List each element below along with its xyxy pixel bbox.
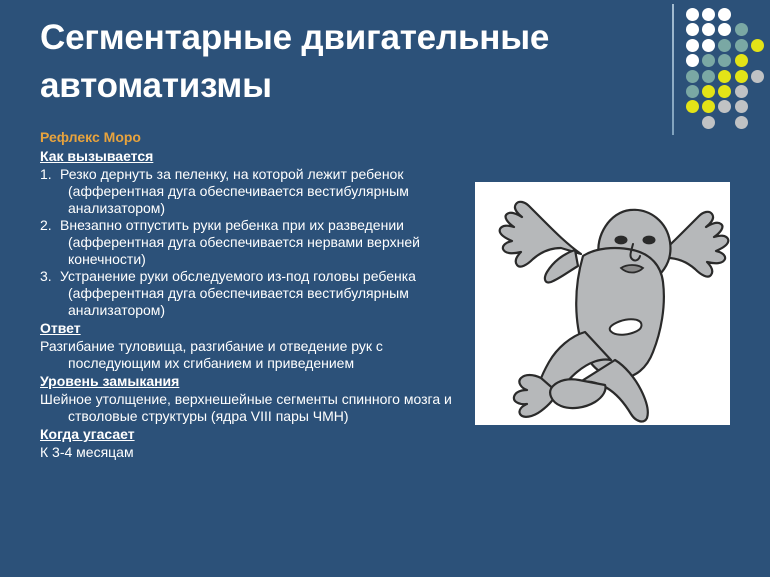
body-text-column: Рефлекс Моро Как вызывается 1.Резко дерн…	[40, 128, 456, 461]
decorative-dot	[686, 54, 699, 67]
fade-time-label: Когда угасает	[40, 425, 456, 444]
illustration-panel	[475, 182, 730, 425]
decorative-dot	[686, 39, 699, 52]
decorative-dot	[702, 39, 715, 52]
decorative-dot	[751, 70, 764, 83]
decorative-dot	[702, 54, 715, 67]
decorative-dot	[751, 39, 764, 52]
decorative-dot	[718, 100, 731, 113]
list-item: 1.Резко дернуть за пеленку, на которой л…	[40, 166, 456, 217]
answer-text: Разгибание туловища, разгибание и отведе…	[40, 338, 456, 372]
mouth-icon	[621, 265, 643, 273]
decorative-dot	[686, 8, 699, 21]
list-item-number: 3.	[40, 268, 60, 285]
decorative-dot	[718, 54, 731, 67]
title-block: Сегментарные двигательные автоматизмы	[40, 14, 660, 110]
closure-level-text: Шейное утолщение, верхнешейные сегменты …	[40, 391, 456, 425]
how-elicited-label: Как вызывается	[40, 147, 456, 166]
list-item: 3.Устранение руки обследуемого из-под го…	[40, 268, 456, 319]
list-item-number: 2.	[40, 217, 60, 234]
decorative-dot	[735, 23, 748, 36]
list-item-text: Резко дернуть за пеленку, на которой леж…	[60, 166, 409, 216]
fade-time-text: К 3-4 месяцам	[40, 444, 456, 461]
decorative-dot-grid	[686, 8, 770, 134]
moro-reflex-infant-drawing	[475, 182, 730, 425]
slide-canvas: Сегментарные двигательные автоматизмы Ре…	[0, 0, 770, 577]
answer-label: Ответ	[40, 319, 456, 338]
decorative-dot	[718, 23, 731, 36]
decorative-dot	[718, 8, 731, 21]
decorative-dot	[718, 39, 731, 52]
list-item-text: Устранение руки обследуемого из-под голо…	[60, 268, 416, 318]
right-eye-icon	[644, 237, 655, 244]
closure-level-label: Уровень замыкания	[40, 372, 456, 391]
decorative-dot	[735, 54, 748, 67]
decorative-dot	[718, 70, 731, 83]
list-item: 2.Внезапно отпустить руки ребенка при их…	[40, 217, 456, 268]
decorative-divider	[672, 4, 674, 135]
decorative-dot	[686, 85, 699, 98]
decorative-dot	[686, 23, 699, 36]
decorative-dot	[686, 100, 699, 113]
decorative-dot	[702, 116, 715, 129]
decorative-dot	[702, 23, 715, 36]
list-item-number: 1.	[40, 166, 60, 183]
decorative-dot	[735, 70, 748, 83]
decorative-dot	[686, 70, 699, 83]
decorative-dot	[702, 70, 715, 83]
decorative-dot	[718, 85, 731, 98]
decorative-dot	[735, 85, 748, 98]
decorative-dot	[735, 100, 748, 113]
decorative-dot	[702, 8, 715, 21]
decorative-dot	[735, 39, 748, 52]
decorative-dot	[702, 85, 715, 98]
decorative-dot	[702, 100, 715, 113]
list-item-text: Внезапно отпустить руки ребенка при их р…	[60, 217, 420, 267]
left-eye-icon	[616, 237, 627, 244]
reflex-name-heading: Рефлекс Моро	[40, 128, 456, 146]
page-title: Сегментарные двигательные автоматизмы	[40, 14, 660, 110]
decorative-dot	[735, 116, 748, 129]
